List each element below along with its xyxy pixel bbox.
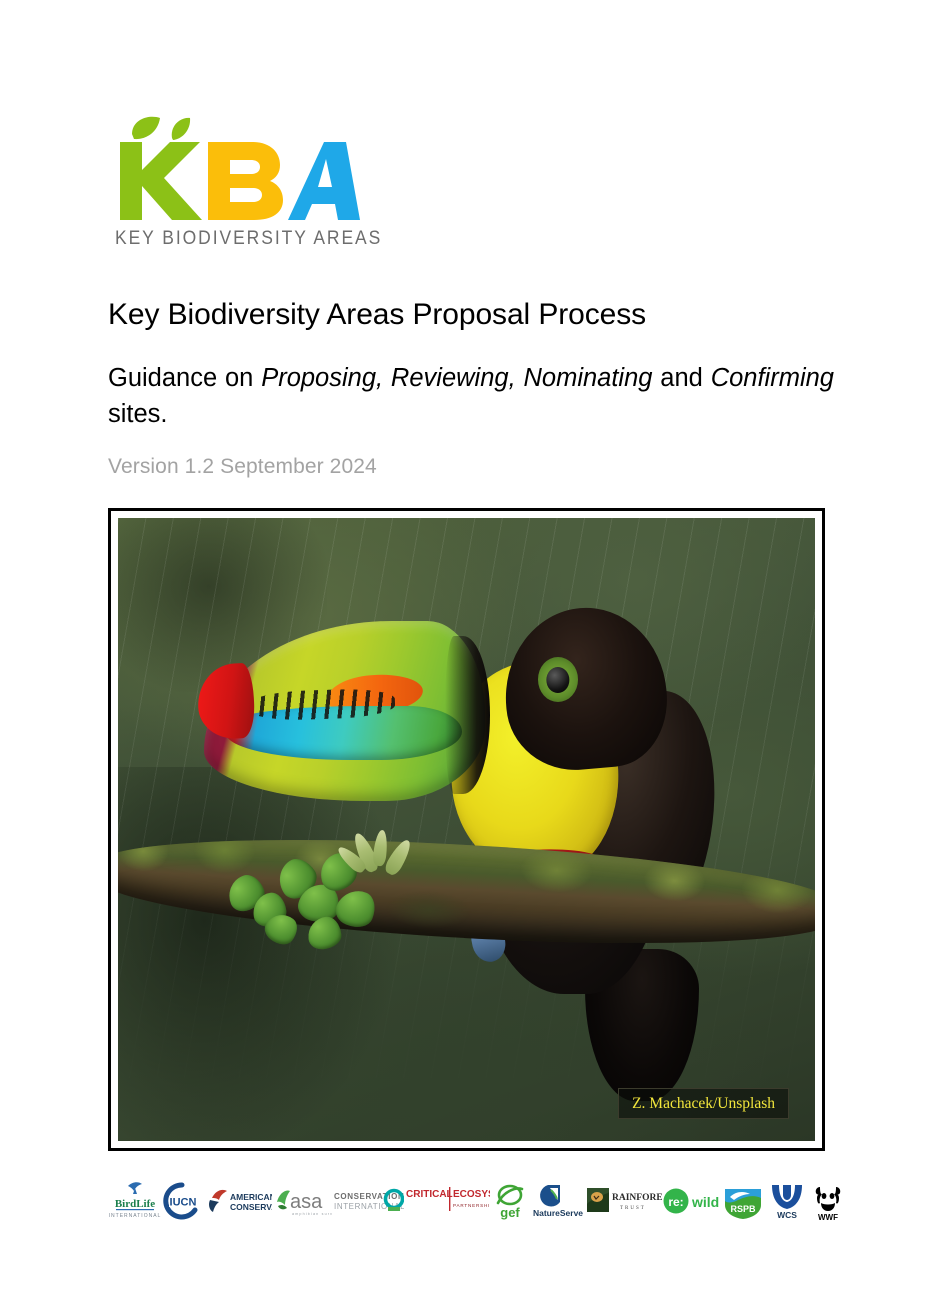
partner-logos-strip: BirdLife INTERNATIONAL IUCN AMERICAN BIR… [108,1176,831,1226]
svg-text:IUCN: IUCN [170,1197,197,1209]
partner-logo-rspb: RSPB [720,1178,766,1224]
svg-text:gef: gef [500,1205,520,1220]
svg-text:PARTNERSHIP FUND: PARTNERSHIP FUND [453,1203,490,1208]
svg-text:asa: asa [290,1191,323,1213]
subtitle-part-4: sites. [108,400,168,428]
partner-logo-iucn: IUCN [162,1178,202,1224]
partner-logo-conservation-international: CONSERVATION INTERNATIONAL [332,1178,404,1224]
svg-text:AMERICAN BIRD: AMERICAN BIRD [230,1192,272,1202]
svg-text:TRUST: TRUST [620,1206,646,1211]
svg-text:CONSERVANCY: CONSERVANCY [230,1202,272,1212]
kba-logo-tagline: KEY BIODIVERSITY AREAS [115,228,382,250]
logo-letter-k [120,142,202,220]
svg-text:RAINFOREST: RAINFOREST [612,1193,662,1203]
toucan-eye [547,667,570,693]
subtitle-part-1: Proposing, Reviewing, Nominating [261,364,652,392]
partner-logo-birdlife-international: BirdLife INTERNATIONAL [108,1178,162,1224]
kba-logo: KEY BIODIVERSITY AREAS [112,112,362,252]
document-subtitle: Guidance on Proposing, Reviewing, Nomina… [108,334,834,432]
beak-red-tip [196,663,256,741]
svg-text:wild: wild [691,1194,719,1210]
partner-logo-american-bird-conservancy: AMERICAN BIRD CONSERVANCY [202,1178,272,1224]
partner-logo-wwf: WWF [808,1178,848,1224]
photo-credit-badge: Z. Machacek/Unsplash [618,1088,789,1120]
document-version: Version 1.2 September 2024 [108,432,834,479]
leaf-right-icon [172,118,190,140]
bromeliad-blade [373,829,389,866]
logo-letter-a [288,142,360,220]
epiphyte-cluster [216,830,425,967]
svg-text:WWF: WWF [818,1213,838,1221]
cover-photo: Z. Machacek/Unsplash [118,518,815,1141]
partner-logo-gef: gef [490,1178,530,1224]
partner-logo-critical-ecosystem-partnership-fund: CRITICAL ECOSYSTEM PARTNERSHIP FUND [404,1178,490,1224]
svg-text:CONSERVATION: CONSERVATION [334,1192,404,1201]
document-title: Key Biodiversity Areas Proposal Process [108,296,834,334]
svg-text:INTERNATIONAL: INTERNATIONAL [109,1213,162,1219]
leaf-left-icon [132,117,160,139]
svg-text:re:: re: [668,1195,683,1209]
subtitle-part-0: Guidance on [108,364,261,392]
toucan [418,599,753,1048]
title-block: Key Biodiversity Areas Proposal Process … [108,296,834,479]
svg-text:CRITICAL: CRITICAL [406,1189,453,1200]
svg-text:WCS: WCS [777,1210,797,1220]
svg-text:RSPB: RSPB [730,1204,756,1214]
subtitle-part-2: and [652,364,710,392]
bromeliad-blade [383,837,415,878]
partner-logo-wcs: WCS [766,1178,808,1224]
toucan-beak [204,621,485,800]
beak-base [445,636,490,794]
svg-text:ECOSYSTEM: ECOSYSTEM [453,1189,490,1200]
partner-logo-asa: asa amphibian survival alliance [272,1178,332,1224]
partner-logo-natureserve: NatureServe [530,1178,586,1224]
svg-text:amphibian survival alliance: amphibian survival alliance [292,1212,332,1216]
svg-text:NatureServe: NatureServe [533,1208,583,1218]
subtitle-part-3: Confirming [711,364,834,392]
cover-photo-frame: Z. Machacek/Unsplash [108,508,825,1151]
kba-logo-mark [112,112,362,224]
partner-logo-rewild: re: wild [662,1178,720,1224]
svg-text:BirdLife: BirdLife [115,1198,155,1210]
partner-logo-rainforest-trust: RAINFOREST TRUST [586,1178,662,1224]
logo-letter-b [208,142,283,220]
